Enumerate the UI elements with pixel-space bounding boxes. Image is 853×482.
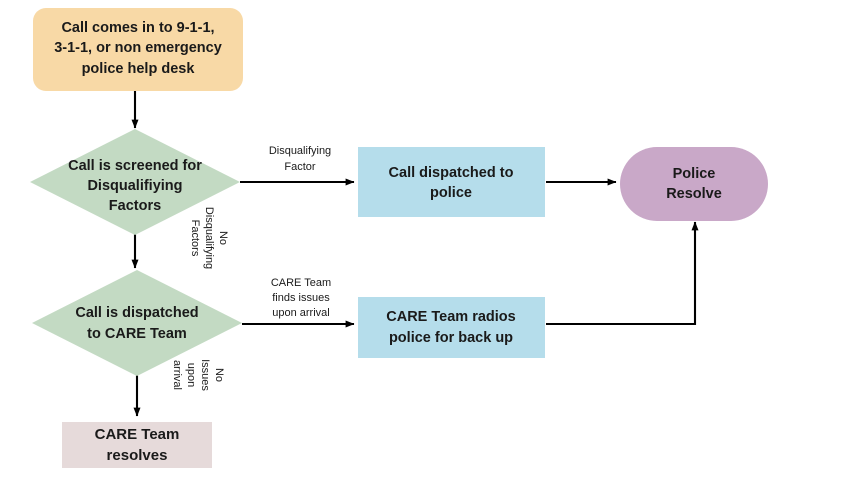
call-intake-line-2: 3-1-1, or non emergency [54,40,222,56]
screening-decision-line-1: Call is screened for [68,158,202,174]
dispatch-care-line-1: Call is dispatched [75,305,198,321]
node-police-resolve[interactable]: Police Resolve [620,147,768,221]
edge-label-no-issues-upon-arrival: No Issues upon arrival [171,359,225,391]
node-dispatch-police[interactable]: Call dispatched to police [358,147,545,217]
care-resolves-line-1: CARE Team [95,426,180,443]
care-finds-issues-line-1: CARE Team [271,277,331,289]
no-issues-upon-arrival-line-3: upon [185,363,197,387]
node-call-intake[interactable]: Call comes in to 9-1-1, 3-1-1, or non em… [33,8,243,91]
care-finds-issues-line-3: upon arrival [272,307,329,319]
care-resolves-line-2: resolves [107,447,168,464]
care-finds-issues-line-2: finds issues [272,292,330,304]
dispatch-police-line-1: Call dispatched to [389,165,514,181]
no-issues-upon-arrival-line-4: arrival [171,360,183,390]
police-resolve-line-1: Police [673,166,716,182]
no-disqualifying-factors-line-1: No [217,231,229,245]
node-care-resolves[interactable]: CARE Team resolves [62,422,212,468]
call-intake-line-3: police help desk [82,61,196,77]
disqualifying-factor-line-1: Disqualifying [269,145,331,157]
call-intake-line-1: Call comes in to 9-1-1, [61,20,214,36]
no-disqualifying-factors-line-2: Disqualifying [203,207,215,269]
dispatch-care-line-2: to CARE Team [87,326,187,342]
care-radios-police-line-2: police for back up [389,330,513,346]
no-issues-upon-arrival-line-2: Issues [199,359,211,391]
edge-label-no-disqualifying-factors: No Disqualifying Factors [189,207,229,269]
no-disqualifying-factors-line-3: Factors [189,220,201,257]
edge-label-care-finds-issues: CARE Team finds issues upon arrival [271,277,331,319]
disqualifying-factor-line-2: Factor [284,161,316,173]
no-issues-upon-arrival-line-1: No [213,368,225,382]
dispatch-police-shape [358,147,545,217]
care-radios-police-shape [358,297,545,358]
screening-decision-line-2: Disqualifiying [87,178,182,194]
care-radios-police-line-1: CARE Team radios [386,309,515,325]
police-resolve-line-2: Resolve [666,186,722,202]
flowchart-svg: Call comes in to 9-1-1, 3-1-1, or non em… [0,0,853,482]
dispatch-police-line-2: police [430,185,472,201]
node-care-radios-police[interactable]: CARE Team radios police for back up [358,297,545,358]
edge-care-radios-to-police-resolve [546,222,695,324]
screening-decision-line-3: Factors [109,198,161,214]
flowchart-canvas: Call comes in to 9-1-1, 3-1-1, or non em… [0,0,853,482]
police-resolve-shape [620,147,768,221]
edge-label-disqualifying-factor: Disqualifying Factor [269,145,331,173]
